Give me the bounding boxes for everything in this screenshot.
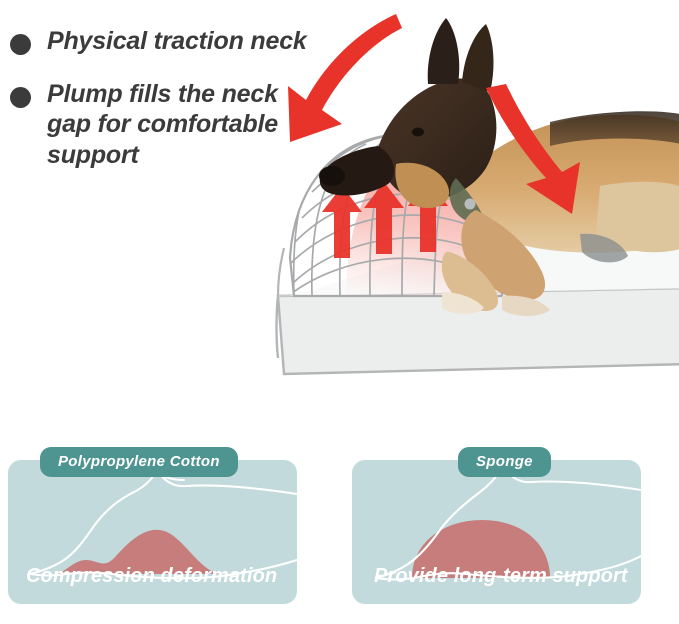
bullet-dot-icon <box>10 34 31 55</box>
badge-polypropylene-cotton: Polypropylene Cotton <box>40 447 238 477</box>
comparison-panels: Polypropylene Cotton Compression deforma… <box>0 452 679 612</box>
hero-illustration <box>250 0 679 396</box>
arrow-to-neck <box>288 14 402 142</box>
caption-provide-long-term-support: Provide long-term support <box>374 565 628 588</box>
caption-compression-deformation: Compression deformation <box>26 565 277 588</box>
infographic-stage: Physical traction neck Plump fills the n… <box>0 0 679 624</box>
bullet-dot-icon <box>10 87 31 108</box>
panel-polypropylene-cotton[interactable]: Polypropylene Cotton Compression deforma… <box>8 460 297 604</box>
panel-sponge[interactable]: Sponge Provide long-term support <box>352 460 641 604</box>
badge-sponge: Sponge <box>458 447 551 477</box>
